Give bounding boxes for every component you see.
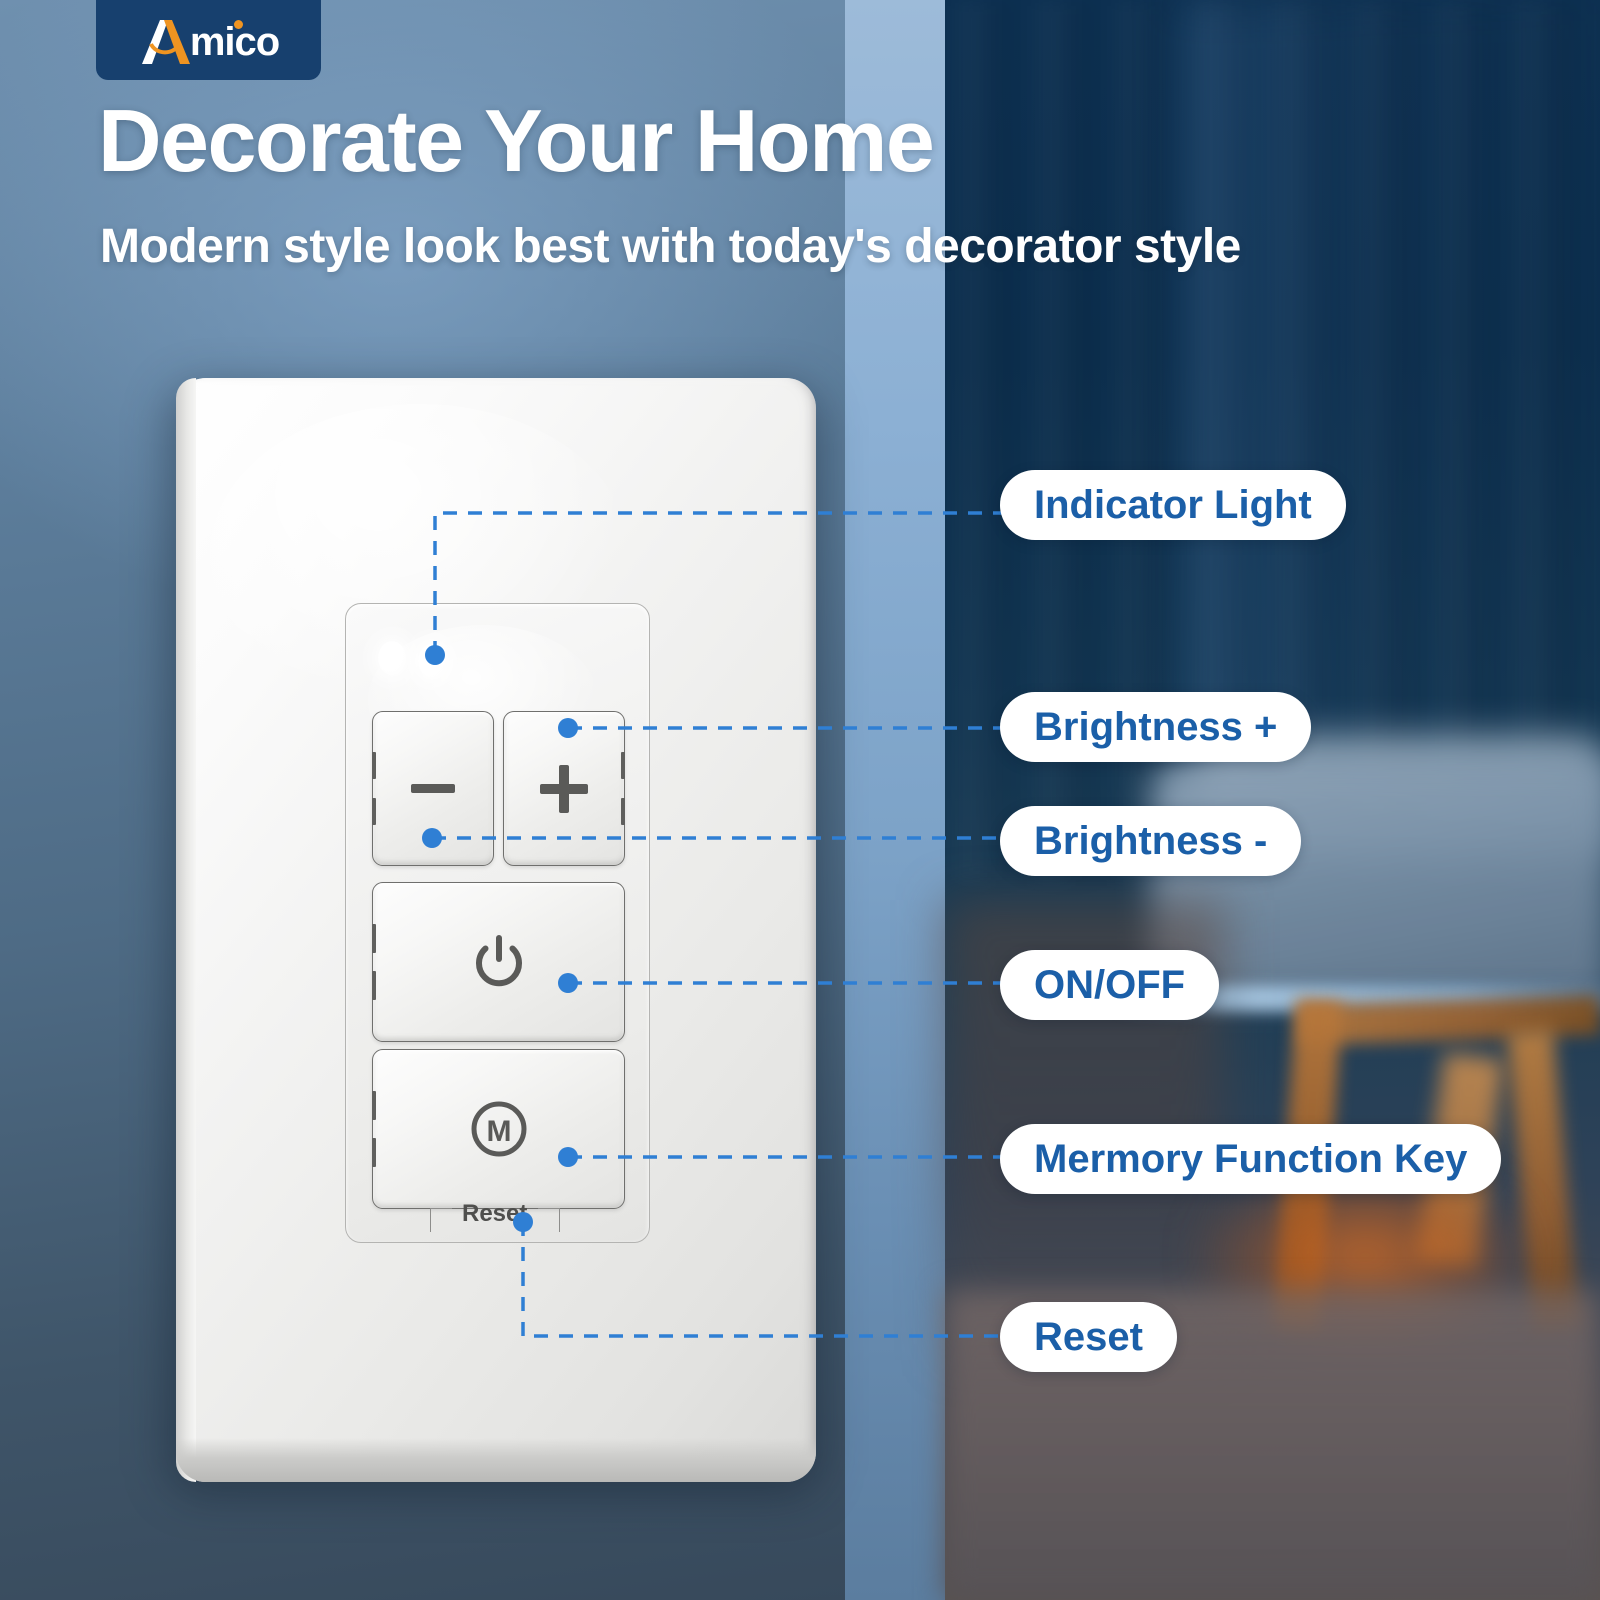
connector-indicator-light [435, 513, 1010, 655]
connector-dot-indicator-light [425, 645, 445, 665]
callout-connectors [0, 0, 1600, 1600]
callout-label: Mermory Function Key [1034, 1137, 1467, 1182]
callout-label: Brightness + [1034, 705, 1277, 750]
connector-dot-reset [513, 1212, 533, 1232]
callout-brightness-minus[interactable]: Brightness - [1000, 806, 1301, 876]
connector-dot-on-off [558, 973, 578, 993]
connector-dot-memory [558, 1147, 578, 1167]
callout-label: Brightness - [1034, 819, 1267, 864]
callout-on-off[interactable]: ON/OFF [1000, 950, 1219, 1020]
connector-dot-brightness-minus [422, 828, 442, 848]
callout-indicator-light[interactable]: Indicator Light [1000, 470, 1346, 540]
callout-reset[interactable]: Reset [1000, 1302, 1177, 1372]
connector-dot-brightness-plus [558, 718, 578, 738]
callout-memory-function-key[interactable]: Mermory Function Key [1000, 1124, 1501, 1194]
callout-label: ON/OFF [1034, 963, 1185, 1008]
connector-reset [523, 1222, 1010, 1336]
callout-label: Reset [1034, 1315, 1143, 1360]
infographic-canvas: mico Decorate Your Home Modern style loo… [0, 0, 1600, 1600]
callout-brightness-plus[interactable]: Brightness + [1000, 692, 1311, 762]
callout-label: Indicator Light [1034, 483, 1312, 528]
